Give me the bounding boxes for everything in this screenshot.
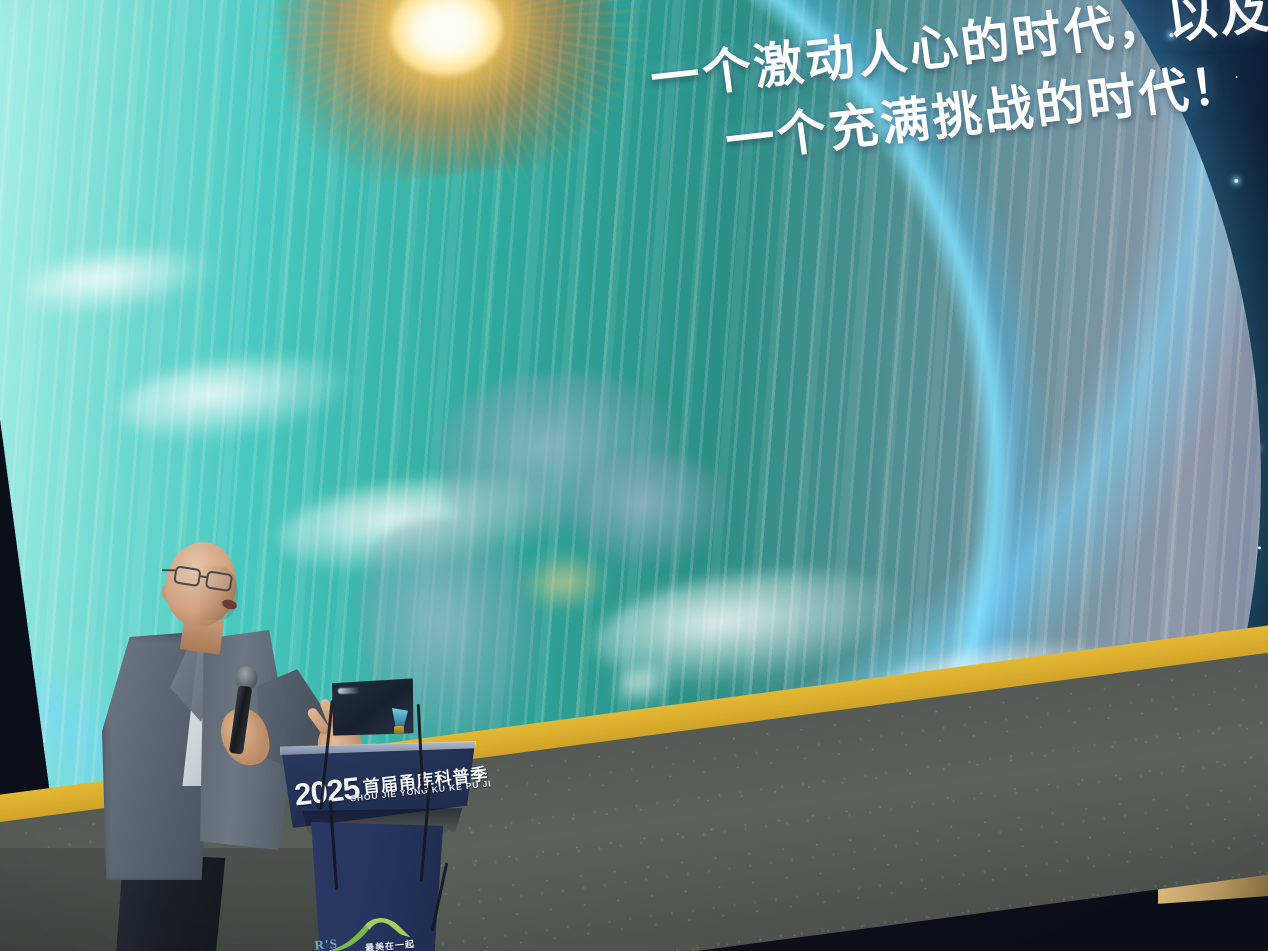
presenter-laptop (327, 671, 420, 743)
podium-year: 2025 (293, 771, 361, 813)
podium-logo-mark: R'S (314, 936, 339, 951)
screenshot-canvas: 一个激动人心的时代，以及 一个充满挑战的时代！ (0, 0, 1268, 951)
podium: 2025首届甬库科普季 SHOU JIE YONG KU KE PU JI R'… (272, 742, 484, 951)
laptop-screen-glare (338, 688, 360, 694)
desk-microphone-base (394, 726, 404, 734)
laptop-screen (327, 671, 420, 743)
